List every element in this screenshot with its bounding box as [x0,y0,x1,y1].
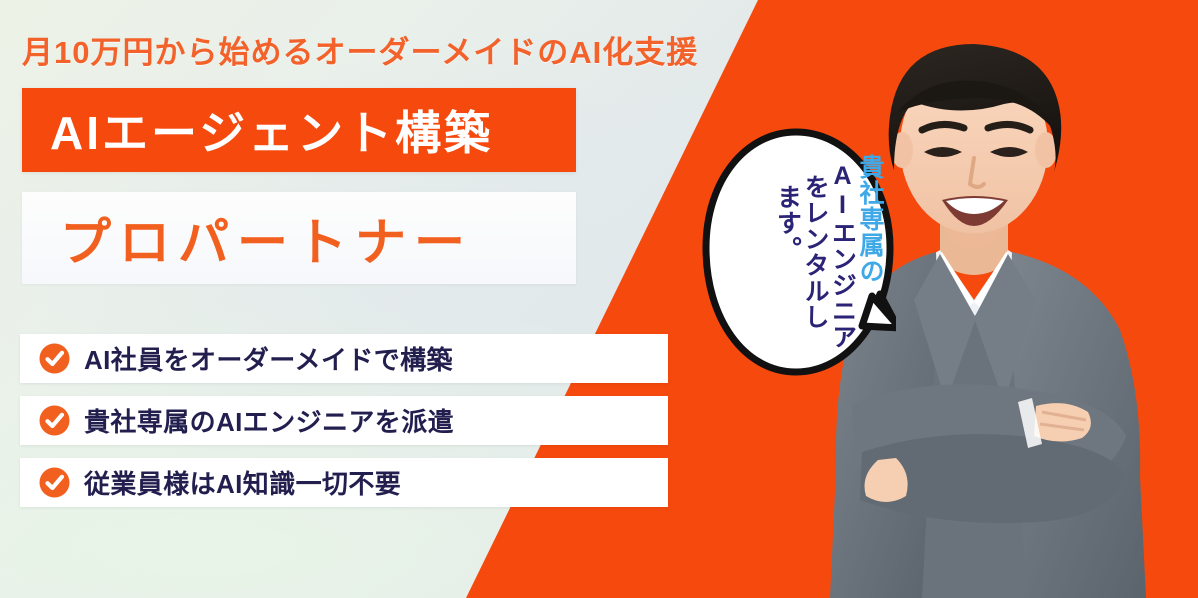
balloon-column-4: ます。 [774,184,800,262]
tagline: 月10万円から始めるオーダーメイドのAI化支援 [22,27,698,72]
list-item: AI社員をオーダーメイドで構築 [20,334,668,383]
list-item-label: AI社員をオーダーメイドで構築 [84,340,453,377]
check-circle-icon [39,405,70,436]
headline-primary: AIエージェント構築 [22,88,576,172]
list-item: 従業員様はAI知識一切不要 [20,458,668,507]
balloon-column-1: 貴社専属の [857,154,883,284]
list-item-label: 従業員様はAI知識一切不要 [84,464,401,501]
copy-column: 月10万円から始めるオーダーメイドのAI化支援 AIエージェント構築 プロパート… [0,0,700,598]
balloon-text: 貴社専属の AIエンジニア をレンタルし ます。 [714,150,882,358]
feature-list: AI社員をオーダーメイドで構築 貴社専属のAIエンジニアを派遣 [20,334,668,520]
balloon-column-3: をレンタルし [802,174,828,330]
list-item: 貴社専属のAIエンジニアを派遣 [20,396,668,445]
check-circle-icon [39,343,70,374]
headline-secondary-text: プロパートナー [22,201,473,275]
headline-primary-text: AIエージェント構築 [22,97,493,163]
list-item-label: 貴社専属のAIエンジニアを派遣 [84,402,454,439]
speech-balloon: 貴社専属の AIエンジニア をレンタルし ます。 [700,128,896,378]
headline-secondary: プロパートナー [22,192,576,284]
balloon-column-2: AIエンジニア [829,162,855,350]
check-circle-icon [39,467,70,498]
ai-agent-promo-banner: 貴社専属の AIエンジニア をレンタルし ます。 月10万円から始めるオーダーメ… [0,0,1198,598]
